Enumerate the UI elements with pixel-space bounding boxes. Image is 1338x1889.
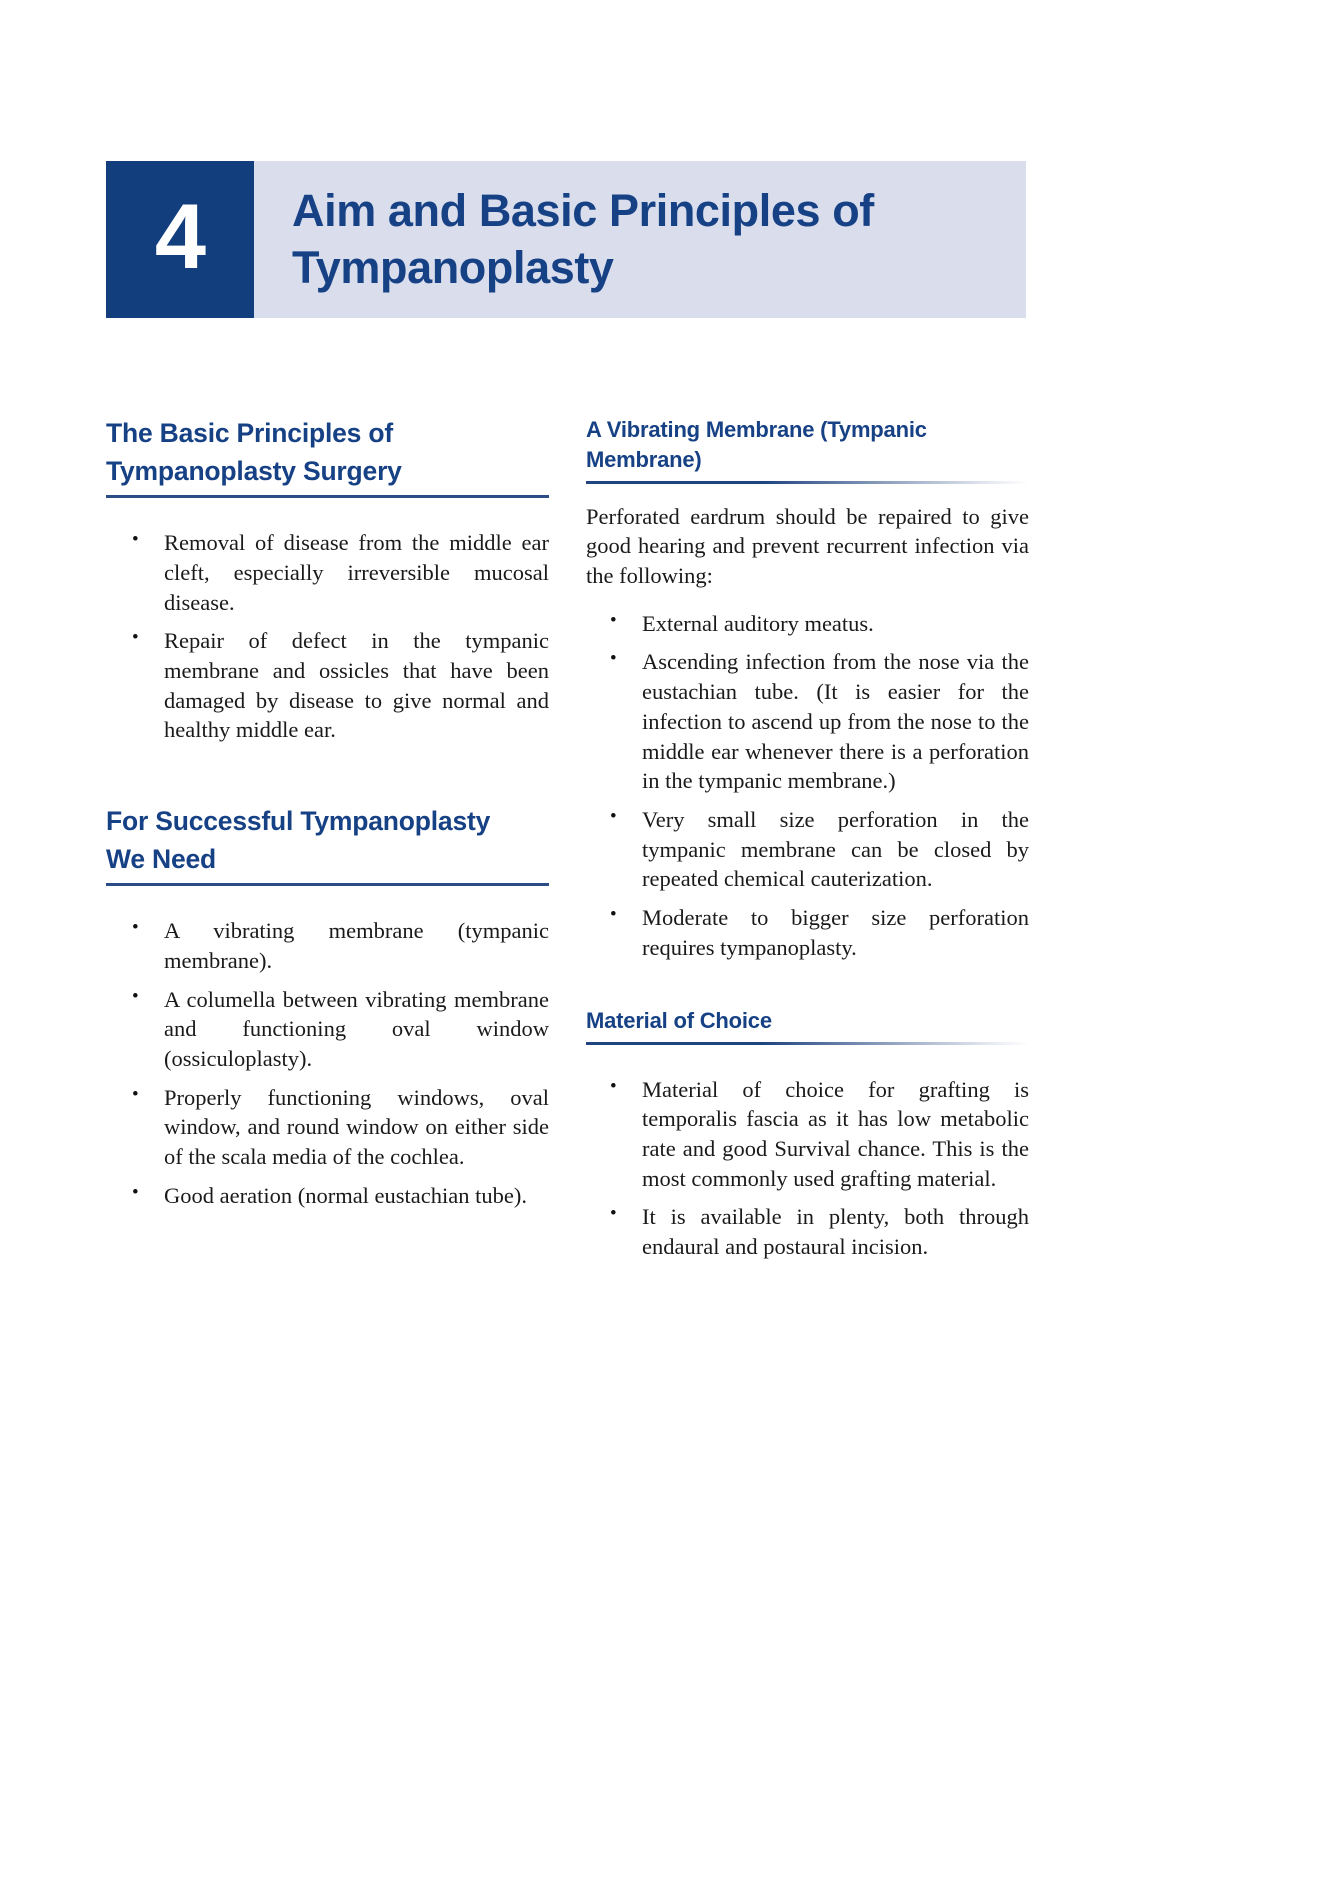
chapter-title-box: Aim and Basic Principles of Tympanoplast… xyxy=(254,161,1026,318)
spacer xyxy=(106,886,549,916)
list-item: It is available in plenty, both through … xyxy=(586,1202,1029,1261)
section-basic-principles: The Basic Principles of Tympanoplasty Su… xyxy=(106,415,549,745)
section-heading-line-1: The Basic Principles of xyxy=(106,415,549,453)
section-heading-line-2: Membrane) xyxy=(586,445,1029,475)
spacer xyxy=(586,962,1029,1006)
list-item: Material of choice for grafting is tempo… xyxy=(586,1075,1029,1194)
vibrating-membrane-intro-paragraph: Perforated eardrum should be repaired to… xyxy=(586,502,1029,591)
section-for-successful-tympanoplasty: For Successful Tympanoplasty We Need A v… xyxy=(106,803,549,1210)
spacer xyxy=(586,484,1029,502)
material-of-choice-bullet-list: Material of choice for grafting is tempo… xyxy=(586,1075,1029,1262)
list-item: A columella between vibrating membrane a… xyxy=(106,985,549,1074)
right-column: A Vibrating Membrane (Tympanic Membrane)… xyxy=(586,415,1029,1262)
chapter-number: 4 xyxy=(155,191,205,289)
section-heading-line-1: For Successful Tympanoplasty xyxy=(106,803,549,841)
list-item: A vibrating membrane (tympanic membrane)… xyxy=(106,916,549,975)
list-item: Properly functioning windows, oval windo… xyxy=(106,1083,549,1172)
chapter-title-line-2: Tympanoplasty xyxy=(292,240,1006,297)
list-item: Removal of disease from the middle ear c… xyxy=(106,528,549,617)
list-item: Very small size perforation in the tympa… xyxy=(586,805,1029,894)
chapter-title-line-1: Aim and Basic Principles of xyxy=(292,183,1006,240)
vibrating-membrane-bullet-list: External auditory meatus. Ascending infe… xyxy=(586,609,1029,963)
spacer xyxy=(106,745,549,803)
chapter-header: 4 Aim and Basic Principles of Tympanopla… xyxy=(106,161,1026,318)
section-heading-line-2: We Need xyxy=(106,841,549,879)
section-vibrating-membrane: A Vibrating Membrane (Tympanic Membrane)… xyxy=(586,415,1029,962)
left-column: The Basic Principles of Tympanoplasty Su… xyxy=(106,415,549,1211)
spacer xyxy=(586,591,1029,609)
list-item: Ascending infection from the nose via th… xyxy=(586,647,1029,795)
document-page: 4 Aim and Basic Principles of Tympanopla… xyxy=(0,0,1338,1889)
list-item: External auditory meatus. xyxy=(586,609,1029,639)
list-item: Repair of defect in the tympanic membran… xyxy=(106,626,549,745)
section-material-of-choice: Material of Choice Material of choice fo… xyxy=(586,1006,1029,1261)
section-heading-line-1: A Vibrating Membrane (Tympanic xyxy=(586,415,1029,445)
spacer xyxy=(586,1045,1029,1075)
list-item: Good aeration (normal eustachian tube). xyxy=(106,1181,549,1211)
chapter-number-box: 4 xyxy=(106,161,254,318)
list-item: Moderate to bigger size perforation requ… xyxy=(586,903,1029,962)
section-heading: Material of Choice xyxy=(586,1006,1029,1036)
successful-tympanoplasty-bullet-list: A vibrating membrane (tympanic membrane)… xyxy=(106,916,549,1210)
spacer xyxy=(106,498,549,528)
section-heading-line-2: Tympanoplasty Surgery xyxy=(106,453,549,491)
basic-principles-bullet-list: Removal of disease from the middle ear c… xyxy=(106,528,549,745)
